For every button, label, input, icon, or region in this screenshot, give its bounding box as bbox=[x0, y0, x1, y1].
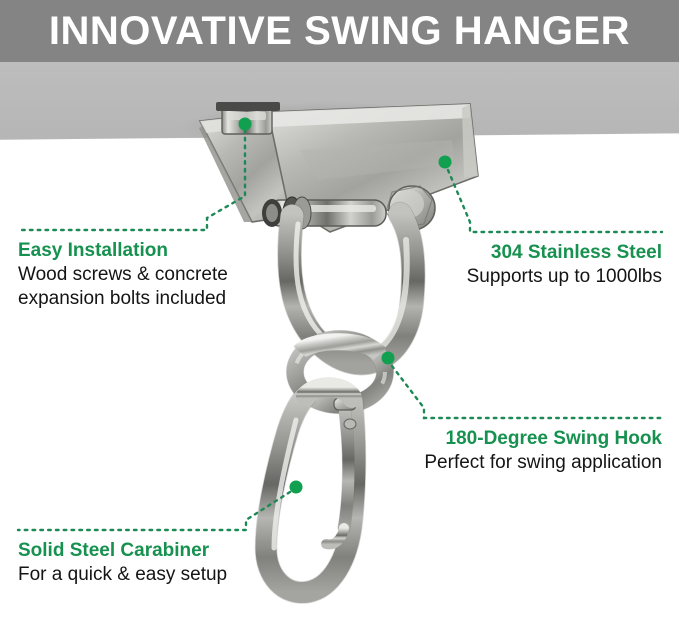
callout-desc-easy-installation-line2: expansion bolts included bbox=[18, 287, 228, 311]
callout-desc-easy-installation-line1: Wood screws & concrete bbox=[18, 263, 228, 287]
callout-title-swing-hook: 180-Degree Swing Hook bbox=[424, 427, 662, 451]
marker-dot-easy-installation[interactable] bbox=[239, 118, 252, 131]
connector-carabiner bbox=[18, 492, 290, 530]
connector-swing-hook bbox=[392, 366, 662, 418]
callout-desc-stainless-steel-line1: Supports up to 1000lbs bbox=[467, 265, 662, 289]
callout-easy-installation: Easy Installation Wood screws & concrete… bbox=[18, 239, 228, 311]
callout-title-easy-installation: Easy Installation bbox=[18, 239, 228, 263]
callout-stainless-steel: 304 Stainless Steel Supports up to 1000l… bbox=[467, 241, 662, 289]
page-title: INNOVATIVE SWING HANGER bbox=[0, 0, 679, 62]
connector-stainless-steel bbox=[448, 170, 662, 232]
connector-easy-installation bbox=[18, 130, 245, 230]
marker-dot-carabiner[interactable] bbox=[290, 481, 303, 494]
callout-desc-swing-hook-line1: Perfect for swing application bbox=[424, 451, 662, 475]
callout-title-carabiner: Solid Steel Carabiner bbox=[18, 539, 227, 563]
ceiling-surface bbox=[0, 62, 679, 167]
callout-carabiner: Solid Steel Carabiner For a quick & easy… bbox=[18, 539, 227, 587]
marker-dot-swing-hook[interactable] bbox=[382, 352, 395, 365]
marker-dot-stainless-steel[interactable] bbox=[439, 156, 452, 169]
callout-desc-carabiner-line1: For a quick & easy setup bbox=[18, 563, 227, 587]
callout-swing-hook: 180-Degree Swing Hook Perfect for swing … bbox=[424, 427, 662, 475]
infographic-canvas: INNOVATIVE SWING HANGER bbox=[0, 0, 679, 628]
callout-title-stainless-steel: 304 Stainless Steel bbox=[467, 241, 662, 265]
